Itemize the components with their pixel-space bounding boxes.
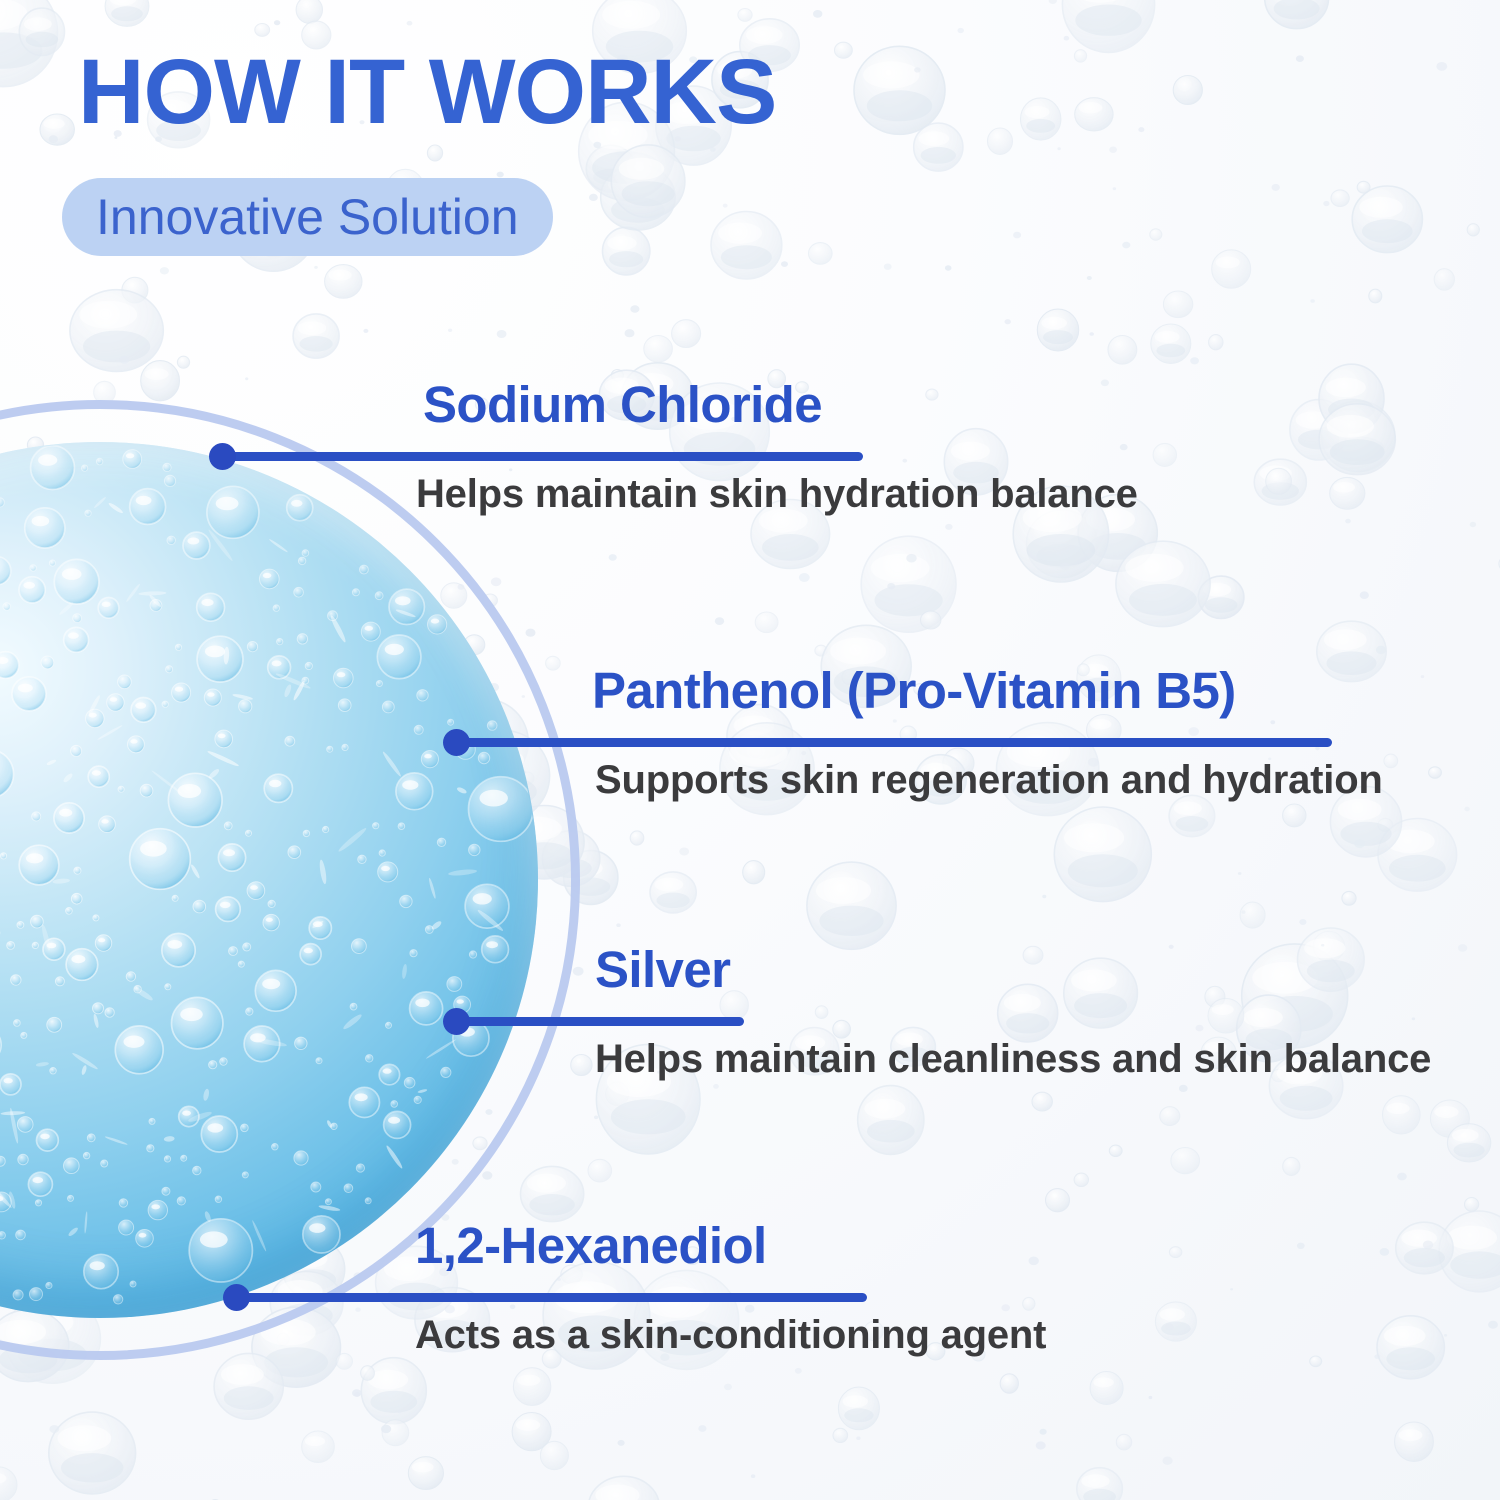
ingredient-description: Helps maintain skin hydration balance — [416, 472, 1138, 517]
ingredient-title: Panthenol (Pro-Vitamin B5) — [592, 661, 1236, 720]
callout-connector-line — [452, 1017, 744, 1026]
ingredient-title: Sodium Chloride — [423, 375, 822, 434]
callout-connector-dot — [223, 1284, 250, 1311]
subtitle-badge: Innovative Solution — [62, 178, 553, 256]
ingredient-title: 1,2-Hexanediol — [415, 1216, 767, 1275]
ingredient-title: Silver — [595, 940, 730, 999]
ingredient-description: Supports skin regeneration and hydration — [595, 758, 1383, 803]
infographic-canvas: HOW IT WORKS Innovative Solution Sodium … — [0, 0, 1500, 1500]
callout-connector-dot — [443, 1008, 470, 1035]
page-title: HOW IT WORKS — [78, 46, 776, 138]
callout-connector-dot — [209, 443, 236, 470]
ingredient-description: Helps maintain cleanliness and skin bala… — [595, 1037, 1431, 1082]
callout-connector-line — [218, 452, 863, 461]
callout-connector-dot — [443, 729, 470, 756]
callout-connector-line — [452, 738, 1332, 747]
callout-connector-line — [232, 1293, 867, 1302]
subtitle-badge-label: Innovative Solution — [96, 188, 519, 246]
ingredient-description: Acts as a skin-conditioning agent — [415, 1313, 1046, 1358]
